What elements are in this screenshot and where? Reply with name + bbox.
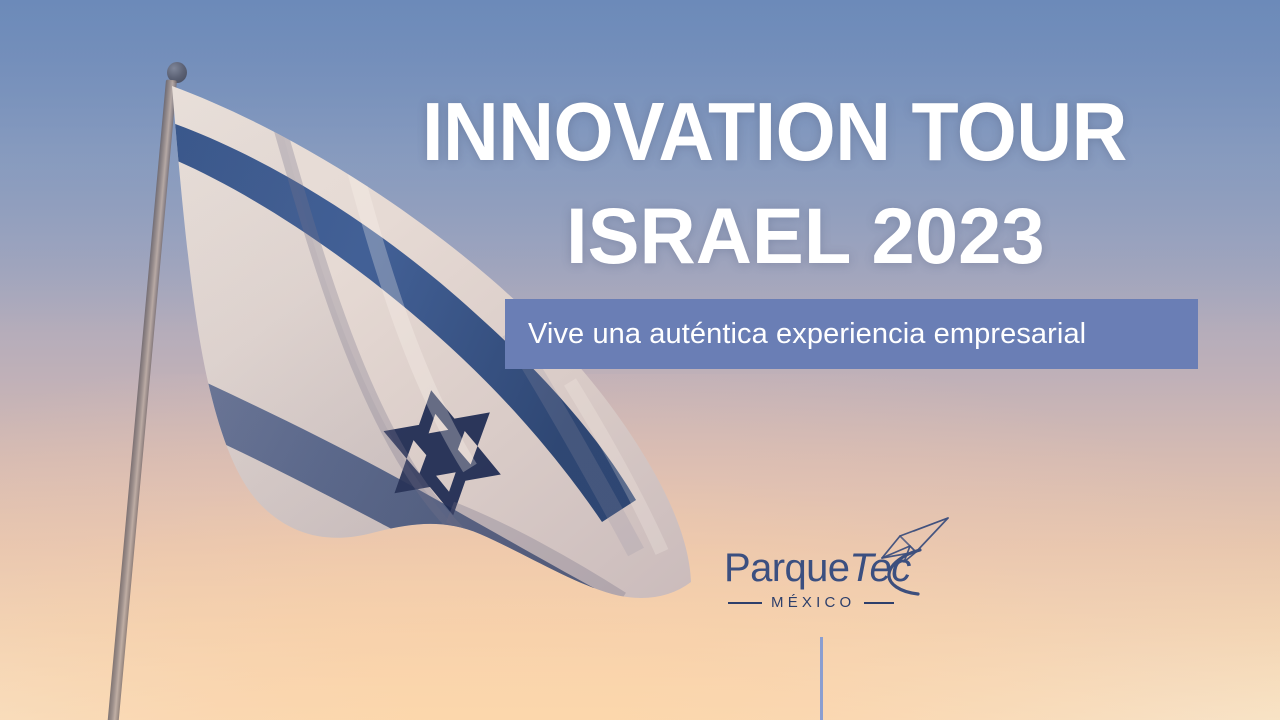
page-subtitle: ISRAEL 2023 [566,199,1045,273]
flagpole-icon [107,80,177,720]
parquetec-logo: ParqueTec MÉXICO [718,512,948,620]
star-of-david-icon [378,381,506,525]
flag-fold-line-b [350,152,470,468]
page-title: INNOVATION TOUR [422,93,1127,171]
poster-canvas: INNOVATION TOUR ISRAEL 2023 Vive una aut… [0,0,1280,720]
logo-rule-right [864,602,894,604]
vertical-accent-line [820,637,823,720]
tagline-text: Vive una auténtica experiencia empresari… [505,318,1086,351]
logo-rule-left [728,602,762,604]
sunset-glow [0,374,1280,720]
flag-highlight [570,382,662,552]
swoosh-icon [884,548,926,596]
logo-subtitle-row: MÉXICO [728,594,934,611]
logo-wordmark: ParqueTec [724,548,911,588]
flag-stripe-bottom [180,374,594,628]
tagline-banner: Vive una auténtica experiencia empresari… [505,299,1198,369]
logo-word-primary: Parque [724,546,849,590]
flag-fold-line-d [450,512,620,602]
logo-subtitle: MÉXICO [771,594,855,611]
